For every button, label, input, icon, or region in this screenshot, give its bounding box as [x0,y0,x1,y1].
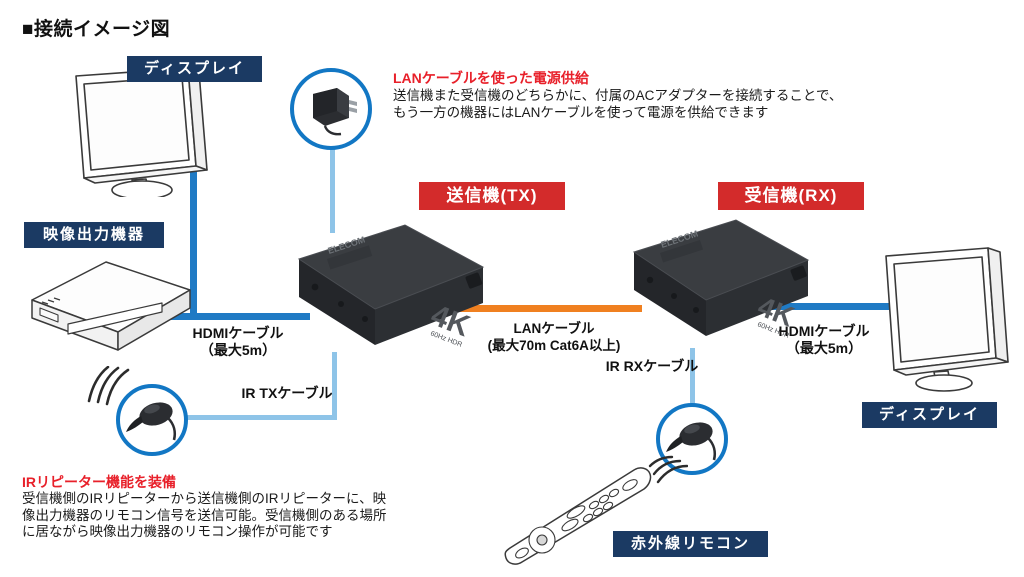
annotation-power-body: 送信機また受信機のどちらかに、付属のACアダプターを接続することで、 もう一方の… [393,88,953,121]
label-display-right-text: ディスプレイ [879,406,980,423]
connection-diagram: ■接続イメージ図 ディスプレイ 映像出力機器 [0,0,1024,577]
cable-ir-tx-horizontal [168,415,337,420]
label-display-left: ディスプレイ [127,56,262,82]
label-transmitter: 送信機(TX) [419,182,565,210]
caption-ir-tx: IR TXケーブル [222,385,352,402]
annotation-ir-heading: IRリピーター機能を装備 [22,472,176,492]
caption-hdmi-right: HDMIケーブル （最大5m） [764,323,884,357]
caption-lan: LANケーブル (最大70m Cat6A以上) [459,320,649,354]
page-title: ■接続イメージ図 [22,14,170,41]
label-display-right: ディスプレイ [862,402,997,428]
caption-ir-rx: IR RXケーブル [592,358,712,375]
ac-adapter-icon [303,80,361,138]
label-video-source: 映像出力機器 [24,222,164,248]
display-right-illustration [878,240,1024,400]
annotation-ir-body: 受信機側のIRリピーターから送信機側のIRリピーターに、映 像出力機器のリモコン… [22,491,442,541]
caption-hdmi-left: HDMIケーブル （最大5m） [168,325,308,359]
display-left-illustration [60,62,230,197]
label-transmitter-text: 送信機(TX) [446,186,537,205]
label-video-source-text: 映像出力機器 [43,226,145,243]
label-display-left-text: ディスプレイ [144,60,245,77]
ir-tx-receiver-icon [124,394,182,446]
label-receiver-text: 受信機(RX) [745,186,838,205]
label-receiver: 受信機(RX) [718,182,864,210]
label-ir-remote: 赤外線リモコン [613,531,768,557]
label-ir-remote-text: 赤外線リモコン [631,535,750,552]
annotation-power-heading: LANケーブルを使った電源供給 [393,68,589,88]
